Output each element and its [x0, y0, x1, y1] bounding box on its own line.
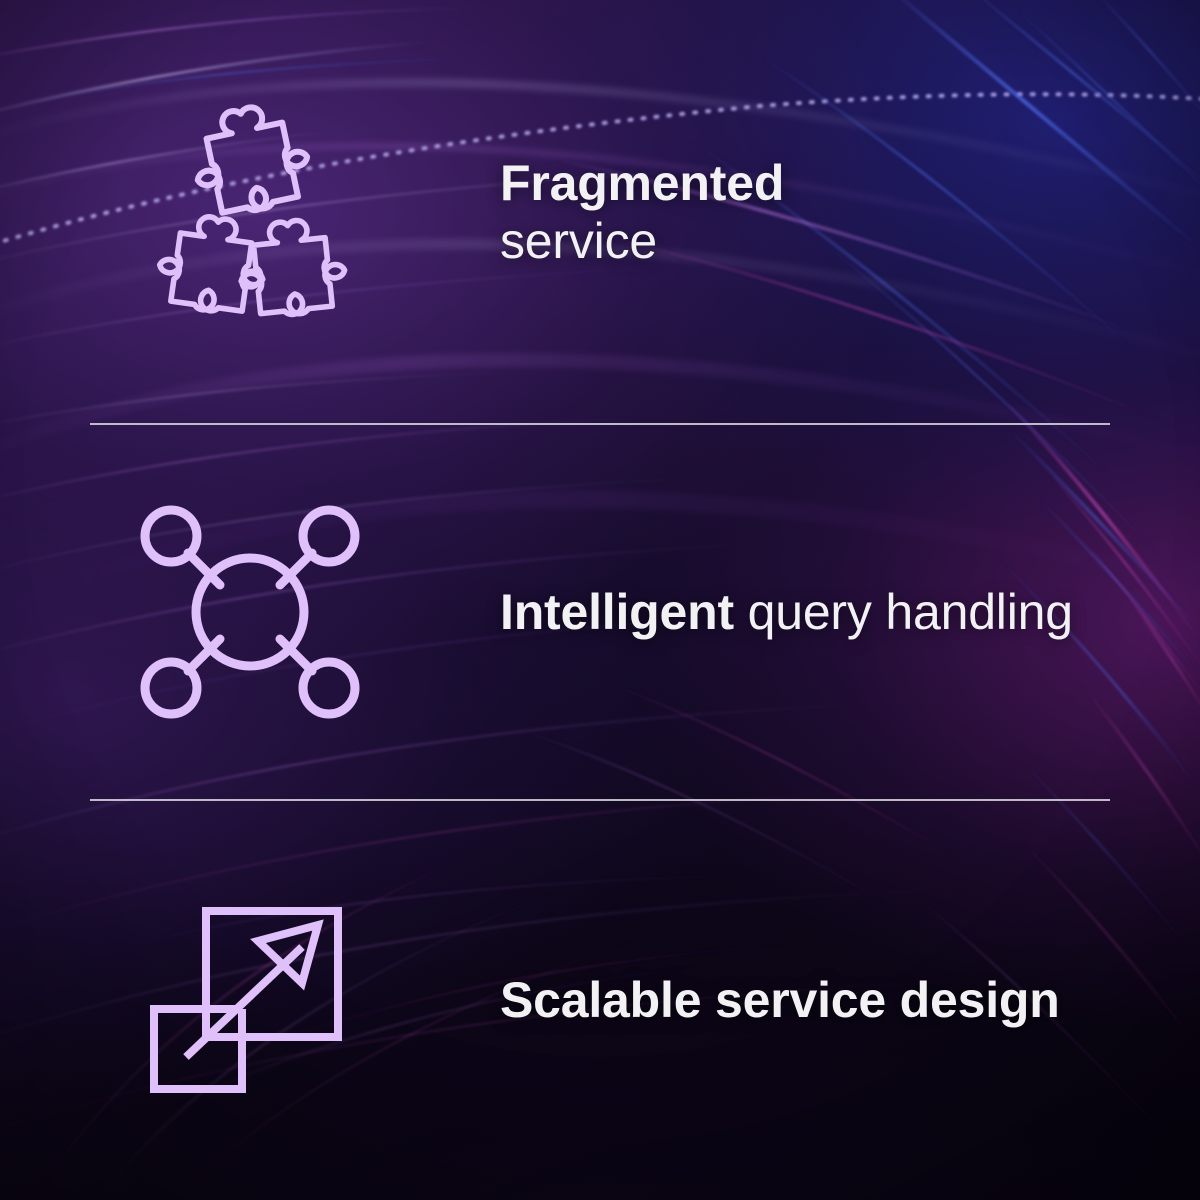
- network-nodes-icon: [136, 501, 364, 723]
- expand-arrow-head: [258, 925, 318, 983]
- text-cell-intelligent-query-handling: Intelligent query handling: [500, 583, 1200, 641]
- expand-scale-icon: [150, 905, 350, 1095]
- text-cell-fragmented-service: Fragmentedservice: [500, 154, 1200, 270]
- feature-regular-text: service: [500, 213, 657, 269]
- feature-bold-text: Scalable service design: [500, 972, 1060, 1028]
- icon-cell-intelligent-query-handling: [0, 501, 500, 723]
- feature-regular-text: query handling: [734, 584, 1073, 640]
- network-node-bottom-left: [145, 662, 197, 714]
- feature-bold-text: Fragmented: [500, 155, 784, 211]
- icon-cell-fragmented-service: [0, 97, 500, 327]
- text-cell-scalable-service-design: Scalable service design: [500, 971, 1200, 1029]
- feature-headline-intelligent-query-handling: Intelligent query handling: [500, 583, 1120, 641]
- network-node-top-left: [145, 510, 197, 562]
- feature-list-graphic: Fragmentedservice: [0, 0, 1200, 1200]
- puzzle-pieces-icon: [135, 97, 365, 327]
- network-node-top-right: [303, 510, 355, 562]
- feature-row-scalable-service-design: Scalable service design: [0, 800, 1200, 1200]
- divider-2: [90, 799, 1110, 801]
- feature-row-intelligent-query-handling: Intelligent query handling: [0, 424, 1200, 800]
- feature-bold-text: Intelligent: [500, 584, 734, 640]
- feature-row-fragmented-service: Fragmentedservice: [0, 0, 1200, 424]
- feature-headline-fragmented-service: Fragmentedservice: [500, 154, 1120, 270]
- feature-headline-scalable-service-design: Scalable service design: [500, 971, 1120, 1029]
- feature-rows: Fragmentedservice: [0, 0, 1200, 1200]
- network-node-bottom-right: [303, 662, 355, 714]
- network-hub-node: [196, 558, 304, 666]
- icon-cell-scalable-service-design: [0, 905, 500, 1095]
- divider-1: [90, 423, 1110, 425]
